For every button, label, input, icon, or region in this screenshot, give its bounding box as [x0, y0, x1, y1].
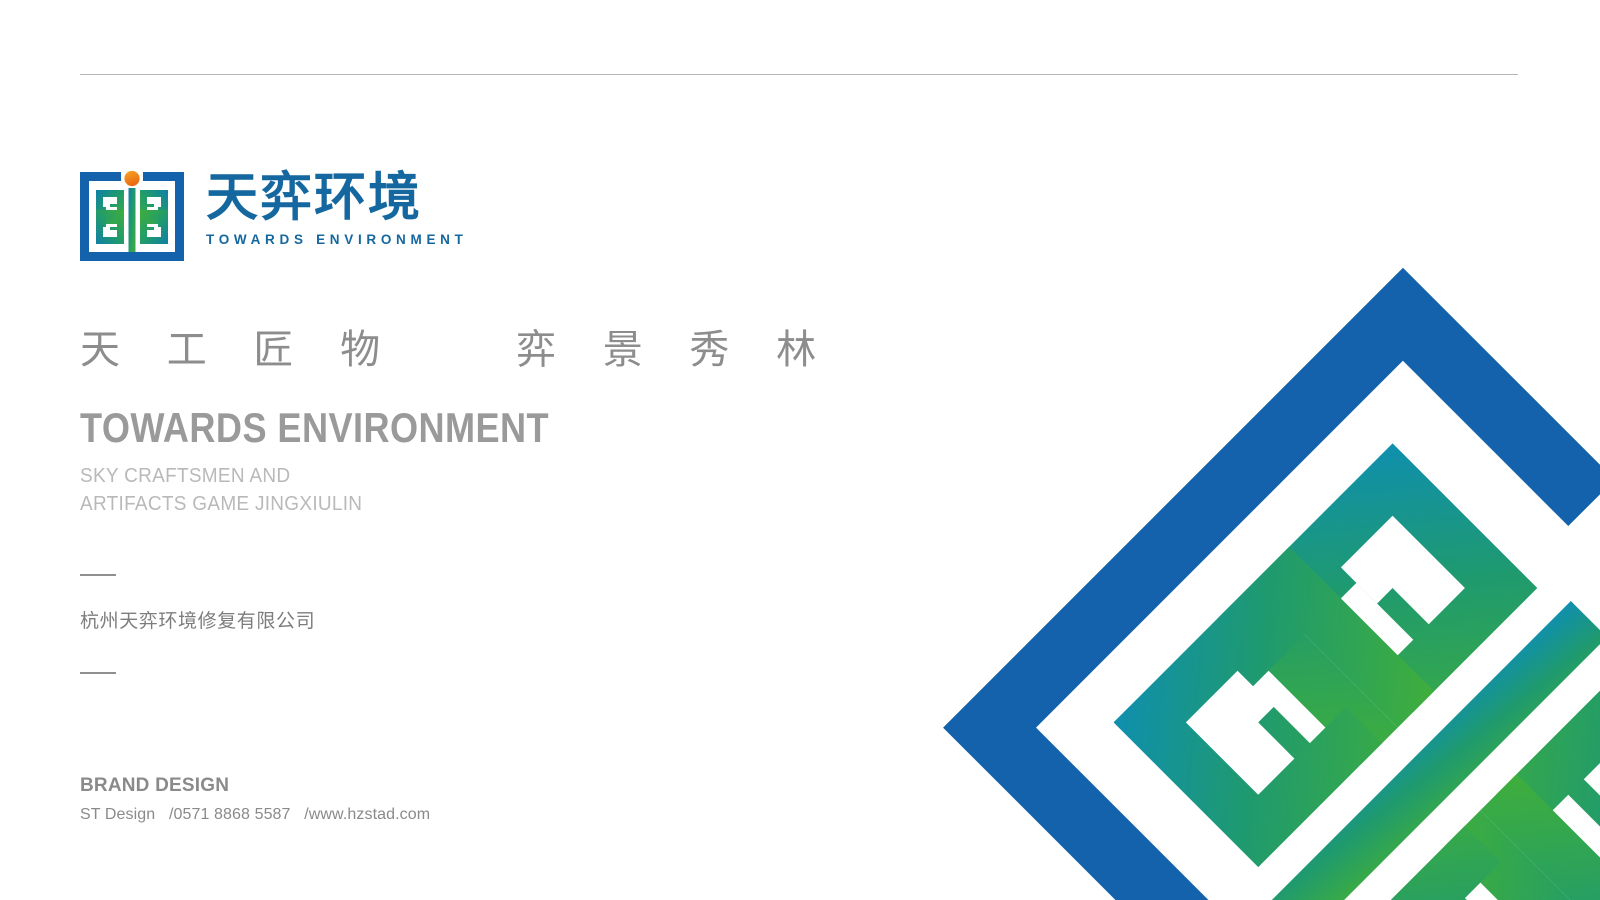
tianyi-environment-logo-mark	[80, 168, 184, 261]
footer-block: BRAND DESIGN ST Design /0571 8868 5587 /…	[80, 774, 430, 825]
brand-logo-lockup: 天弈环境 TOWARDS ENVIRONMENT	[80, 168, 468, 261]
footer-contact-line: ST Design /0571 8868 5587 /www.hzstad.co…	[80, 805, 430, 825]
divider-rule-above-company	[80, 574, 116, 576]
logo-chinese-name: 天弈环境	[206, 172, 468, 225]
slogan-english-subtitle: SKY CRAFTSMEN AND ARTIFACTS GAME JINGXIU…	[80, 463, 362, 518]
footer-title: BRAND DESIGN	[80, 774, 430, 798]
logo-wordmark: 天弈环境 TOWARDS ENVIRONMENT	[206, 168, 468, 247]
slogan-chinese: 天 工 匠 物 弈 景 秀 林	[80, 327, 833, 373]
corner-decorative-logo-mark	[915, 219, 1600, 900]
brand-cover-page: 天弈环境 TOWARDS ENVIRONMENT 天 工 匠 物 弈 景 秀 林…	[0, 0, 1600, 900]
slogan-subtitle-line-1: SKY CRAFTSMEN AND	[80, 463, 362, 491]
slogan-subtitle-line-2: ARTIFACTS GAME JINGXIULIN	[80, 491, 362, 519]
company-name: 杭州天弈环境修复有限公司	[80, 606, 315, 633]
slogan-english-headline: TOWARDS ENVIRONMENT	[80, 405, 549, 450]
orange-accent-dot	[124, 171, 139, 186]
divider-rule-below-company	[80, 672, 116, 674]
logo-english-name: TOWARDS ENVIRONMENT	[206, 232, 468, 247]
top-divider-rule	[80, 74, 1518, 75]
